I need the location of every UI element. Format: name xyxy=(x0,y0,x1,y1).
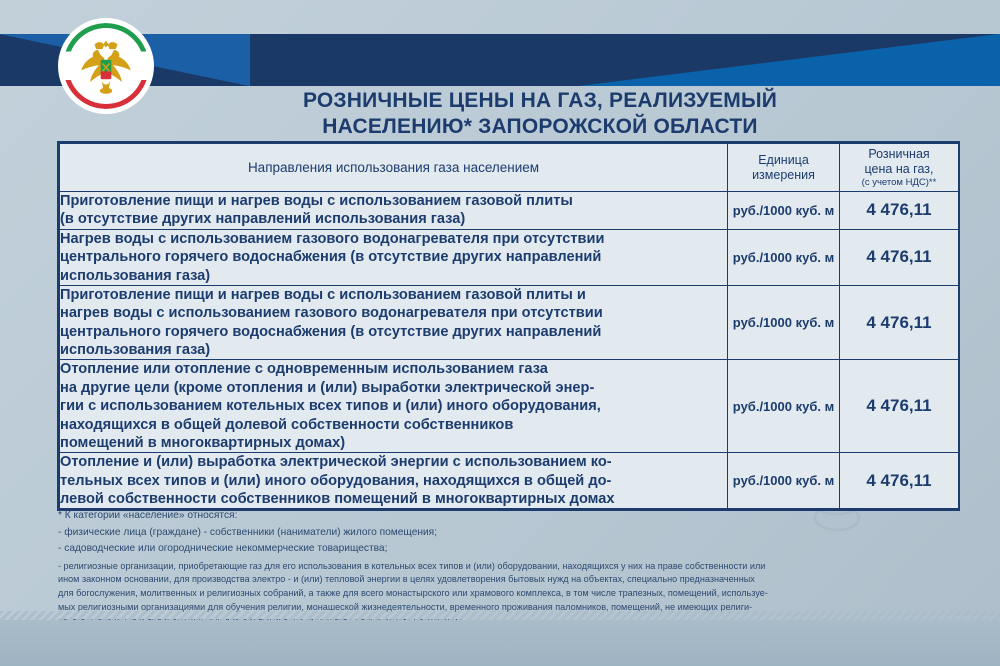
russian-federation-emblem-icon xyxy=(63,23,149,109)
gas-price-table-container: Направления использования газа население… xyxy=(57,141,960,511)
table-header-row: Направления использования газа население… xyxy=(60,144,959,192)
cell-price: 4 476,11 xyxy=(840,192,959,230)
direction-line: Нагрев воды с использованием газового во… xyxy=(60,230,727,248)
footnote-line: ином законном основании, для производств… xyxy=(58,573,958,587)
table-row: Отопление и (или) выработка электрическо… xyxy=(60,453,959,509)
footnote-item-1: - физические лица (граждане) - собственн… xyxy=(58,525,958,542)
direction-line: Приготовление пищи и нагрев воды с испол… xyxy=(60,192,727,210)
column-header-price-line-1: Розничная xyxy=(868,147,929,161)
column-header-direction: Направления использования газа население… xyxy=(60,144,728,192)
direction-line: Отопление и (или) выработка электрическо… xyxy=(60,453,727,471)
bottom-strip xyxy=(0,620,1000,666)
header-band-wedge-right xyxy=(580,34,1000,86)
infographic-page: РОЗНИЧНЫЕ ЦЕНЫ НА ГАЗ, РЕАЛИЗУЕМЫЙ НАСЕЛ… xyxy=(0,0,1000,666)
cell-direction: Отопление или отопление с одновременным … xyxy=(60,360,728,453)
footnote-item-2: - садоводческие или огороднические неком… xyxy=(58,541,958,558)
column-header-price: Розничная цена на газ, (с учетом НДС)** xyxy=(840,144,959,192)
cell-direction: Приготовление пищи и нагрев воды с испол… xyxy=(60,192,728,230)
direction-line: тельных всех типов и (или) иного оборудо… xyxy=(60,472,727,490)
table-body: Приготовление пищи и нагрев воды с испол… xyxy=(60,192,959,509)
table-row: Приготовление пищи и нагрев воды с испол… xyxy=(60,192,959,230)
page-title-line-1: РОЗНИЧНЫЕ ЦЕНЫ НА ГАЗ, РЕАЛИЗУЕМЫЙ xyxy=(180,88,900,114)
cell-price: 4 476,11 xyxy=(840,285,959,360)
emblem-inner-disc xyxy=(68,28,144,104)
cell-unit: руб./1000 куб. м xyxy=(728,192,840,230)
header-band xyxy=(0,34,1000,86)
footnote-intro: * К категории «население» относятся: xyxy=(58,508,958,525)
cell-unit: руб./1000 куб. м xyxy=(728,285,840,360)
direction-line: Приготовление пищи и нагрев воды с испол… xyxy=(60,286,727,304)
cell-price: 4 476,11 xyxy=(840,360,959,453)
cell-unit: руб./1000 куб. м xyxy=(728,229,840,285)
direction-line: левой собственности собственников помеще… xyxy=(60,490,727,508)
column-header-unit-line-2: измерения xyxy=(752,168,815,182)
cell-price: 4 476,11 xyxy=(840,453,959,509)
footnote-line: - религиозные организации, приобретающие… xyxy=(58,560,958,574)
cell-direction: Отопление и (или) выработка электрическо… xyxy=(60,453,728,509)
direction-line: центрального горячего водоснабжения (в о… xyxy=(60,248,727,266)
column-header-price-vat-note: (с учетом НДС)** xyxy=(840,177,958,188)
direction-line: использования газа) xyxy=(60,267,727,285)
table-row: Приготовление пищи и нагрев воды с испол… xyxy=(60,285,959,360)
column-header-price-line-2: цена на газ, xyxy=(865,162,934,176)
cell-direction: Нагрев воды с использованием газового во… xyxy=(60,229,728,285)
direction-line: на другие цели (кроме отопления и (или) … xyxy=(60,379,727,397)
bottom-zigzag-decoration xyxy=(0,611,1000,620)
column-header-unit-line-1: Единица xyxy=(758,153,809,167)
direction-line: центрального горячего водоснабжения (в о… xyxy=(60,323,727,341)
cell-unit: руб./1000 куб. м xyxy=(728,453,840,509)
direction-line: использования газа) xyxy=(60,341,727,359)
cell-direction: Приготовление пищи и нагрев воды с испол… xyxy=(60,285,728,360)
direction-line: гии с использованием котельных всех типо… xyxy=(60,397,727,415)
direction-line: Отопление или отопление с одновременным … xyxy=(60,360,727,378)
gas-price-table: Направления использования газа население… xyxy=(59,143,959,509)
direction-line: помещений в многоквартирных домах) xyxy=(60,434,727,452)
direction-line: находящихся в общей долевой собственност… xyxy=(60,416,727,434)
cell-unit: руб./1000 куб. м xyxy=(728,360,840,453)
direction-line: нагрев воды с использованием газового во… xyxy=(60,304,727,322)
footnote-line: для богослужения, молитвенных и религиоз… xyxy=(58,587,958,601)
table-row: Отопление или отопление с одновременным … xyxy=(60,360,959,453)
cell-price: 4 476,11 xyxy=(840,229,959,285)
table-row: Нагрев воды с использованием газового во… xyxy=(60,229,959,285)
page-title-line-2: НАСЕЛЕНИЮ* ЗАПОРОЖСКОЙ ОБЛАСТИ xyxy=(180,114,900,140)
page-title: РОЗНИЧНЫЕ ЦЕНЫ НА ГАЗ, РЕАЛИЗУЕМЫЙ НАСЕЛ… xyxy=(180,88,900,141)
column-header-unit: Единица измерения xyxy=(728,144,840,192)
direction-line: (в отсутствие других направлений использ… xyxy=(60,210,727,228)
